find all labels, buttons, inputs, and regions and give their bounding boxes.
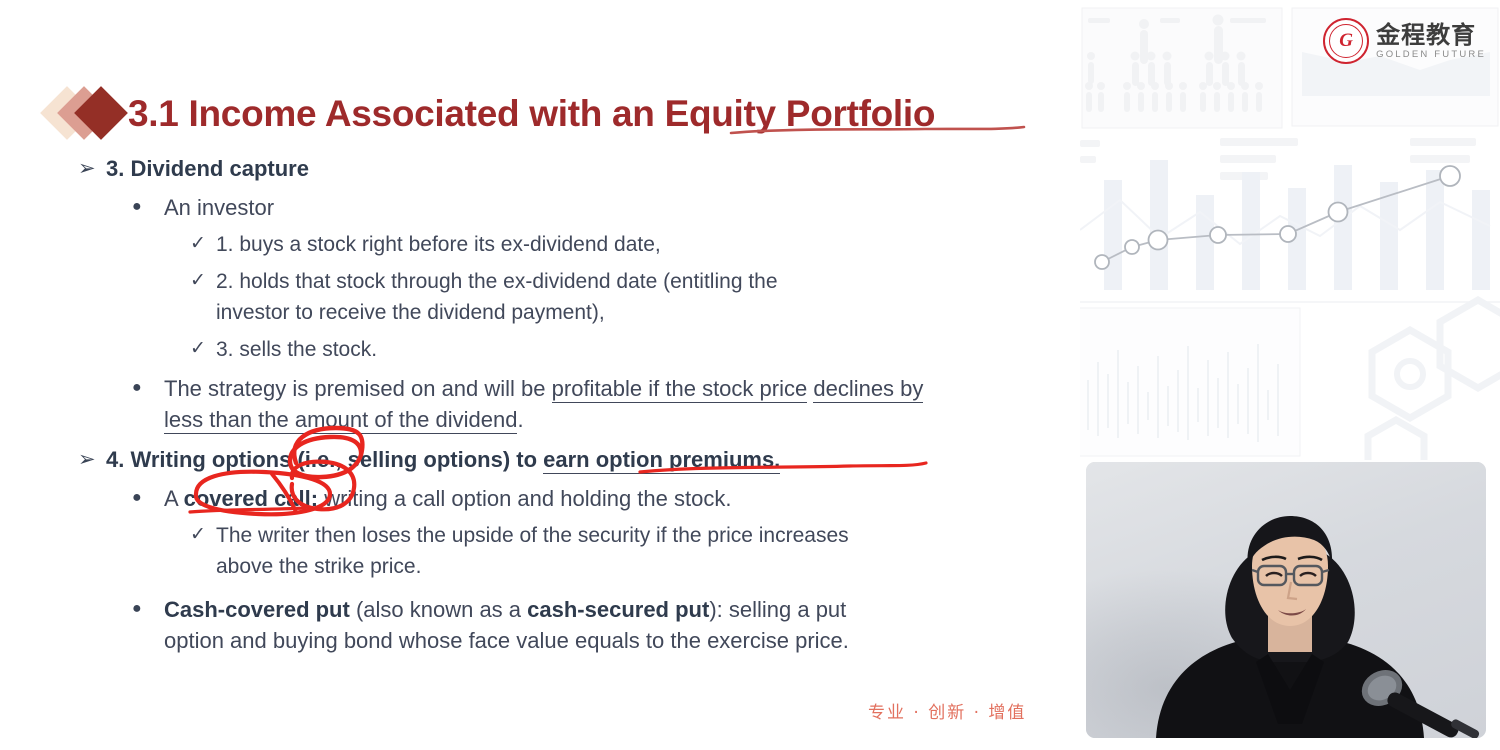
logo-name-en: GOLDEN FUTURE (1376, 50, 1486, 60)
right-panel: G 金程教育 GOLDEN FUTURE (1080, 0, 1500, 750)
ink-annotation-layer (0, 0, 1080, 750)
ink-underline-earn-premiums (640, 463, 926, 472)
brand-logo: G 金程教育 GOLDEN FUTURE (1323, 18, 1486, 64)
slide-canvas: 3.1 Income Associated with an Equity Por… (0, 0, 1080, 750)
ink-title-underline (731, 127, 1024, 133)
logo-text: 金程教育 GOLDEN FUTURE (1376, 23, 1486, 60)
logo-name-cn: 金程教育 (1376, 23, 1486, 47)
presenter-figure (1086, 462, 1486, 738)
presenter-webcam[interactable] (1086, 462, 1486, 738)
screen-root: 3.1 Income Associated with an Equity Por… (0, 0, 1500, 750)
ink-circle-options (290, 428, 362, 477)
logo-monogram: G (1325, 20, 1367, 62)
infographic-watermark (1080, 0, 1500, 460)
seal-icon: G (1323, 18, 1369, 64)
